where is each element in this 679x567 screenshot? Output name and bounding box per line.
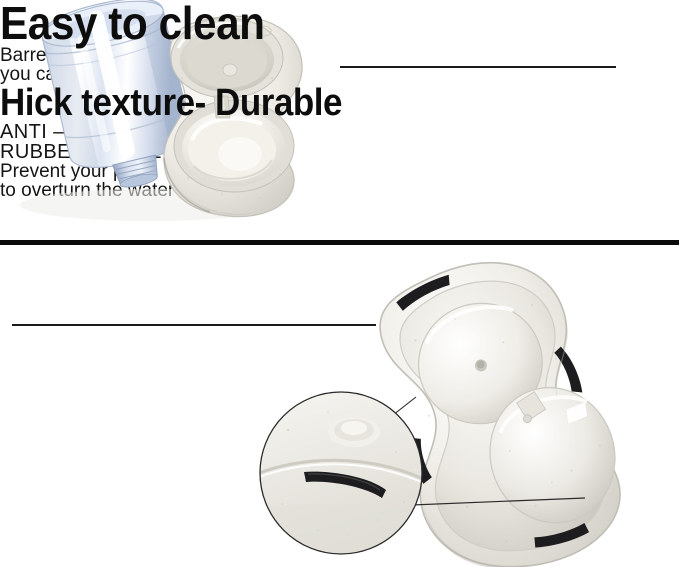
top-heading-underline	[340, 66, 616, 68]
bottom-heading-underline	[12, 324, 376, 326]
bottom-section-heading: Hick texture- Durable	[0, 84, 625, 122]
top-section-heading: Easy to clean	[0, 0, 625, 46]
section-divider	[0, 240, 679, 245]
infographic-page: Easy to clean Barrel and chassis can be …	[0, 0, 679, 567]
magnifier-circle-icon	[258, 390, 424, 556]
